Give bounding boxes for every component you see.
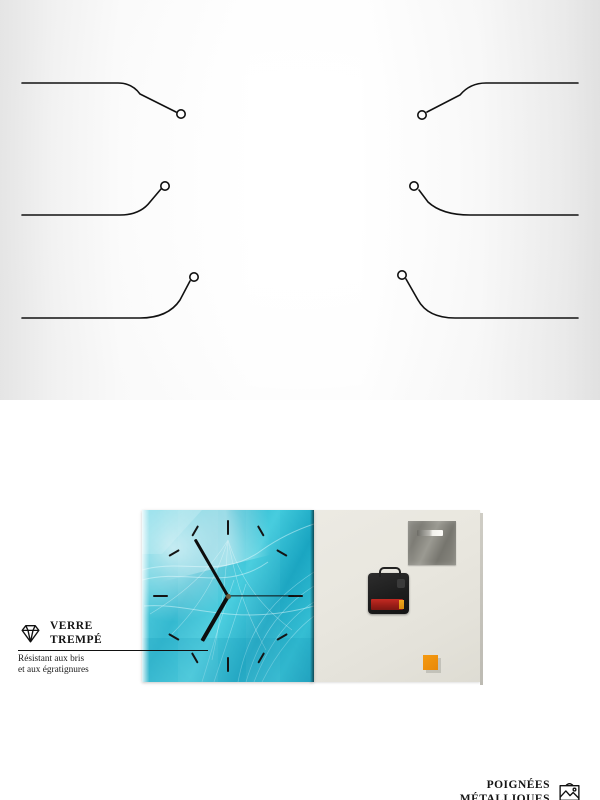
tick-2 (276, 549, 287, 556)
battery (371, 599, 403, 610)
tick-11 (191, 525, 198, 536)
tick-1 (257, 525, 264, 536)
endpoint-dot-poignees (418, 111, 426, 119)
connector-verre (22, 83, 176, 112)
endpoint-dot-impression (161, 182, 169, 190)
callout-header: POIGNÉES MÉTALLIQUES (392, 779, 582, 800)
callout-description: Résistant aux bris et aux égratignures (18, 654, 208, 677)
tick-12 (227, 520, 229, 535)
connector-mecanisme (419, 190, 578, 215)
tick-10 (168, 549, 179, 556)
bracket-slot (417, 530, 443, 536)
callout-title: POIGNÉES MÉTALLIQUES (460, 779, 550, 800)
clock-mechanism (368, 573, 409, 614)
connector-poignees (427, 83, 578, 112)
callout-connector-lines (0, 0, 600, 400)
endpoint-dot-bords (190, 273, 198, 281)
diamond-icon (18, 621, 43, 646)
endpoint-dot-entretoise (398, 271, 406, 279)
mechanism-hanger (379, 567, 401, 577)
callout-poignees-metalliques: POIGNÉES MÉTALLIQUES Facilite le montage… (392, 779, 582, 800)
connector-impression (22, 189, 161, 215)
callout-title: VERRE TREMPÉ (50, 620, 102, 647)
second-hand (228, 595, 294, 596)
callout-header: VERRE TREMPÉ (18, 620, 208, 647)
foam-spacer (423, 655, 438, 670)
picture-hanger-icon (557, 780, 582, 800)
tick-6 (227, 657, 229, 672)
metallic-bracket (408, 521, 456, 565)
connector-bords (22, 281, 190, 318)
endpoint-dot-verre (177, 110, 185, 118)
infographic-canvas: VERRE TREMPÉ Résistant aux bris et aux é… (0, 0, 600, 400)
connector-entretoise (406, 279, 578, 318)
minute-hand (194, 538, 230, 597)
endpoint-dot-mecanisme (410, 182, 418, 190)
callout-verre-trempe: VERRE TREMPÉ Résistant aux bris et aux é… (18, 620, 208, 677)
tick-4 (276, 633, 287, 640)
clock-hub (226, 594, 231, 599)
callout-divider (18, 650, 208, 651)
tick-5 (257, 652, 264, 663)
clock-back-panel (310, 510, 480, 682)
mechanism-knob (397, 579, 405, 588)
tick-9 (153, 595, 168, 597)
